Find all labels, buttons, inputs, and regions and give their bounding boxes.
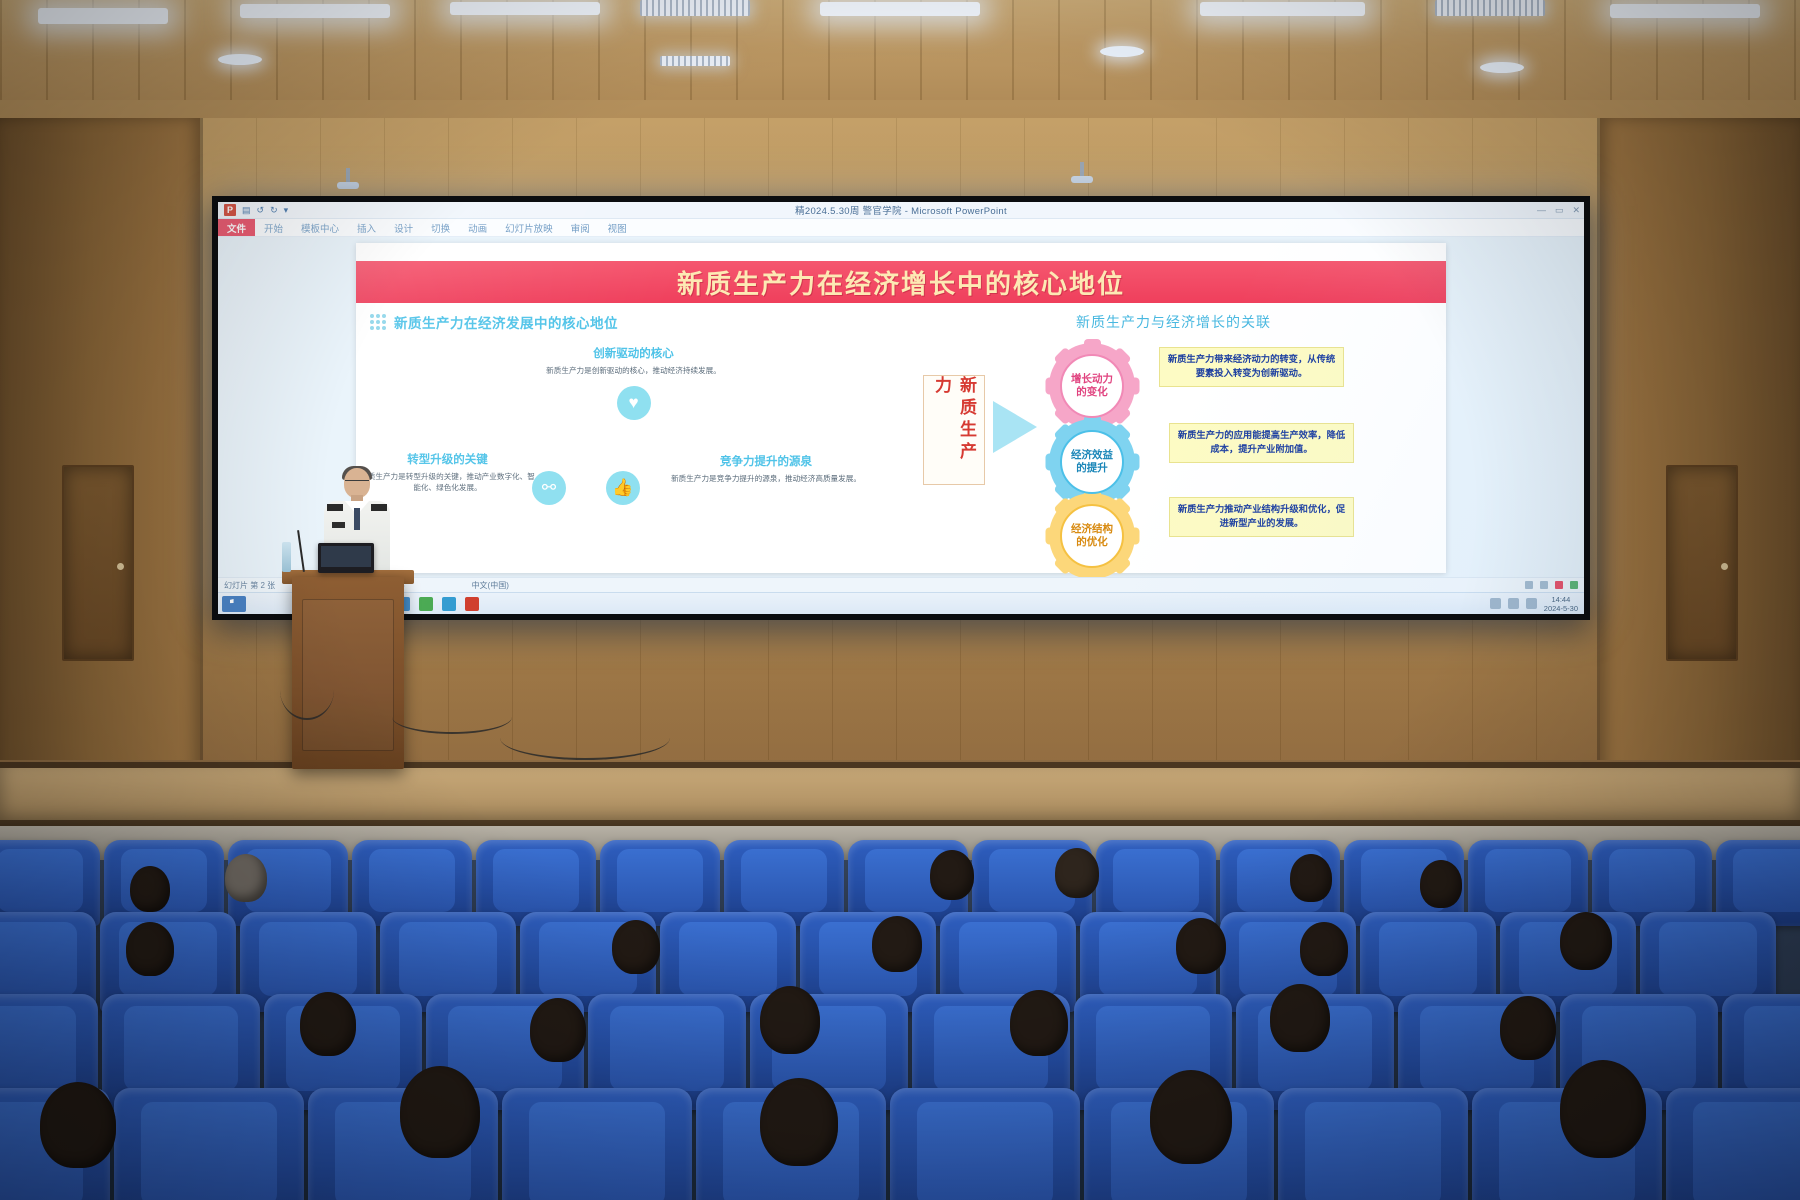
- audience-head: [1500, 996, 1556, 1060]
- block-heading: 转型升级的关键: [360, 451, 535, 467]
- downlight: [218, 54, 262, 65]
- network-icon[interactable]: [1508, 598, 1519, 609]
- restore-icon[interactable]: ▭: [1555, 205, 1564, 216]
- audience-head: [1176, 918, 1226, 974]
- seat: [114, 1088, 304, 1200]
- tray-expand-icon[interactable]: [1490, 598, 1501, 609]
- powerpoint-titlebar: P ▤ ↺ ↻ ▾ 精2024.5.30周 警官学院 - Microsoft P…: [218, 202, 1584, 219]
- door-right: [1666, 465, 1738, 661]
- slide-indicator: 幻灯片 第 2 张: [218, 580, 275, 591]
- slide-title-band: 新质生产力在经济增长中的核心地位: [356, 261, 1446, 303]
- right-section-heading: 新质生产力与经济增长的关联: [901, 303, 1446, 332]
- floor-cable: [500, 716, 670, 760]
- slide-top-margin: [356, 243, 1446, 261]
- audience-head: [400, 1066, 480, 1158]
- note-economic-benefit: 新质生产力的应用能提高生产效率，降低成本，提升产业附加值。: [1169, 423, 1354, 463]
- audience-head: [300, 992, 356, 1056]
- powerpoint-status-bar: 幻灯片 第 2 张 A0001201405130A998"PBG" 中文(中国): [218, 577, 1584, 592]
- audience-head: [40, 1082, 116, 1168]
- left-section-heading: 新质生产力在经济发展中的核心地位: [356, 303, 901, 332]
- gear-label-line1: 经济效益: [1071, 449, 1113, 462]
- ceiling-light: [450, 2, 600, 15]
- left-block-innovation: 创新驱动的核心 新质生产力是创新驱动的核心，推动经济持续发展。 ♥: [526, 345, 741, 420]
- audience-head: [930, 850, 974, 900]
- tab-review[interactable]: 审阅: [562, 219, 599, 236]
- seat: [1278, 1088, 1468, 1200]
- wall-seam-right: [1597, 118, 1600, 778]
- gear-label-line2: 的变化: [1076, 386, 1108, 399]
- slide[interactable]: 新质生产力在经济增长中的核心地位 新质生产力在经济发展中的核心地位: [356, 243, 1446, 573]
- tab-file[interactable]: 文件: [218, 219, 255, 236]
- browser-icon[interactable]: [442, 597, 456, 611]
- gear-label-line2: 的优化: [1076, 536, 1108, 549]
- glasses-icon: [345, 480, 369, 485]
- ceiling-light-grille: [640, 0, 750, 16]
- close-icon[interactable]: ✕: [1572, 205, 1580, 216]
- tab-template-center[interactable]: 模板中心: [292, 219, 348, 236]
- minimize-icon[interactable]: —: [1537, 205, 1546, 216]
- projection-screen-frame: P ▤ ↺ ↻ ▾ 精2024.5.30周 警官学院 - Microsoft P…: [212, 196, 1590, 620]
- language-indicator[interactable]: 中文(中国): [408, 580, 509, 591]
- ribbon-tabs[interactable]: 文件 开始 模板中心 插入 设计 切换 动画 幻灯片放映 审阅 视图: [218, 219, 1584, 237]
- vertical-label-box: 新质生产力: [923, 375, 985, 485]
- dot-grid-icon: [370, 314, 386, 330]
- audience-head: [1055, 848, 1099, 898]
- downlight: [1480, 62, 1524, 73]
- tab-animations[interactable]: 动画: [459, 219, 496, 236]
- ceiling-light: [820, 2, 980, 16]
- gear-economic-structure: 经济结构 的优化: [1049, 493, 1135, 579]
- volume-icon[interactable]: [1526, 598, 1537, 609]
- reading-view-icon[interactable]: [1555, 581, 1563, 589]
- gear-label-line1: 经济结构: [1071, 523, 1113, 536]
- block-body: 新质生产力是竞争力提升的源泉，推动经济高质量发展。: [656, 473, 876, 484]
- door-left: [62, 465, 134, 661]
- slide-canvas-area: 新质生产力在经济增长中的核心地位 新质生产力在经济发展中的核心地位: [218, 237, 1584, 581]
- gear-label-line2: 的提升: [1076, 462, 1108, 475]
- audience-head: [1150, 1070, 1232, 1164]
- projector-head: [1071, 176, 1093, 183]
- clock-time: 14:44: [1544, 595, 1578, 604]
- audience-head: [530, 998, 586, 1062]
- ceiling-light-grille: [1435, 0, 1545, 16]
- audience-head: [1420, 860, 1462, 908]
- note-growth-momentum: 新质生产力带来经济动力的转变，从传统要素投入转变为创新驱动。: [1159, 347, 1344, 387]
- laptop: [318, 543, 374, 573]
- block-heading: 创新驱动的核心: [526, 345, 741, 361]
- block-heading: 竞争力提升的源泉: [656, 453, 876, 469]
- system-tray[interactable]: 14:44 2024-5-30: [1490, 595, 1584, 613]
- powerpoint-taskbar-icon[interactable]: [465, 597, 479, 611]
- seat: [1666, 1088, 1800, 1200]
- left-block-competitiveness: 竞争力提升的源泉 新质生产力是竞争力提升的源泉，推动经济高质量发展。: [656, 453, 876, 484]
- normal-view-icon[interactable]: [1525, 581, 1533, 589]
- heart-icon: ♥: [617, 386, 651, 420]
- wechat-icon[interactable]: [419, 597, 433, 611]
- podium-cable: [280, 660, 334, 720]
- floor-cable: [392, 700, 512, 734]
- window-controls[interactable]: — ▭ ✕: [1537, 205, 1580, 216]
- gear-label: 增长动力 的变化: [1060, 354, 1124, 418]
- audience-head: [1270, 984, 1330, 1052]
- ceiling-light: [1200, 2, 1365, 16]
- gear-label: 经济效益 的提升: [1060, 430, 1124, 494]
- left-section-heading-text: 新质生产力在经济发展中的核心地位: [394, 312, 618, 332]
- audience-head: [130, 866, 170, 912]
- gear-label: 经济结构 的优化: [1060, 504, 1124, 568]
- taskbar-clock[interactable]: 14:44 2024-5-30: [1544, 595, 1578, 613]
- status-view-controls[interactable]: [1525, 581, 1584, 589]
- arrow-icon: [993, 401, 1037, 453]
- share-nodes-icon: ⚯: [532, 471, 566, 505]
- thumbs-up-icon-wrap: 👍: [606, 471, 640, 505]
- projector-head: [337, 182, 359, 189]
- tab-insert[interactable]: 插入: [348, 219, 385, 236]
- seat: [502, 1088, 692, 1200]
- audience-head: [225, 854, 267, 902]
- slide-content: 新质生产力在经济发展中的核心地位 创新驱动的核心 新质生产力是创新驱动的核心，推…: [356, 303, 1446, 573]
- audience-head: [1560, 1060, 1646, 1158]
- audience-head: [760, 1078, 838, 1166]
- thumbs-up-icon: 👍: [606, 471, 640, 505]
- slide-left-panel: 新质生产力在经济发展中的核心地位 创新驱动的核心 新质生产力是创新驱动的核心，推…: [356, 303, 901, 573]
- taskbar-pinned-items[interactable]: [396, 597, 479, 611]
- audience-head: [760, 986, 820, 1054]
- presenter-tie: [354, 508, 360, 530]
- projection-screen: P ▤ ↺ ↻ ▾ 精2024.5.30周 警官学院 - Microsoft P…: [218, 202, 1584, 614]
- auditorium-scene: P ▤ ↺ ↻ ▾ 精2024.5.30周 警官学院 - Microsoft P…: [0, 0, 1800, 1200]
- slide-title-text: 新质生产力在经济增长中的核心地位: [677, 264, 1125, 301]
- shoulder-board-left: [327, 504, 343, 511]
- tab-transitions[interactable]: 切换: [422, 219, 459, 236]
- right-wall-panel: [1600, 118, 1800, 778]
- stage-front-face: [0, 768, 1800, 826]
- vertical-label-text: 新质生产力: [929, 376, 979, 484]
- share-nodes-icon-wrap: ⚯: [532, 471, 566, 505]
- downlight-grille: [660, 56, 730, 66]
- ceiling-light: [38, 8, 168, 24]
- downlight: [1100, 46, 1144, 57]
- seat: [890, 1088, 1080, 1200]
- audience-head: [872, 916, 922, 972]
- gear-growth-momentum: 增长动力 的变化: [1049, 343, 1135, 429]
- audience-head: [126, 922, 174, 976]
- audience-head: [1560, 912, 1612, 970]
- tab-slideshow[interactable]: 幻灯片放映: [496, 219, 562, 236]
- tab-home[interactable]: 开始: [255, 219, 292, 236]
- audience-area: [0, 826, 1800, 1200]
- audience-head: [1300, 922, 1348, 976]
- slideshow-view-icon[interactable]: [1570, 581, 1578, 589]
- ceiling-light: [1610, 4, 1760, 18]
- audience-head: [1010, 990, 1068, 1056]
- name-badge: [332, 522, 345, 528]
- audience-head: [612, 920, 660, 974]
- sorter-view-icon[interactable]: [1540, 581, 1548, 589]
- slide-right-panel: 新质生产力与经济增长的关联 新质生产力: [901, 303, 1446, 573]
- gear-label-line1: 增长动力: [1071, 373, 1113, 386]
- left-wall-panel: [0, 118, 200, 778]
- shoulder-board-right: [371, 504, 387, 511]
- audience-head: [1290, 854, 1332, 902]
- clock-date: 2024-5-30: [1544, 604, 1578, 613]
- wall-seam-left: [200, 118, 203, 778]
- tab-design[interactable]: 设计: [385, 219, 422, 236]
- water-bottle: [282, 542, 291, 572]
- start-button-icon[interactable]: [222, 596, 246, 612]
- windows-taskbar[interactable]: 14:44 2024-5-30: [218, 592, 1584, 614]
- tab-view[interactable]: 视图: [599, 219, 636, 236]
- ceiling-light: [240, 4, 390, 18]
- block-body: 新质生产力是创新驱动的核心，推动经济持续发展。: [526, 365, 741, 376]
- window-title: 精2024.5.30周 警官学院 - Microsoft PowerPoint: [218, 203, 1584, 217]
- note-economic-structure: 新质生产力推动产业结构升级和优化，促进新型产业的发展。: [1169, 497, 1354, 537]
